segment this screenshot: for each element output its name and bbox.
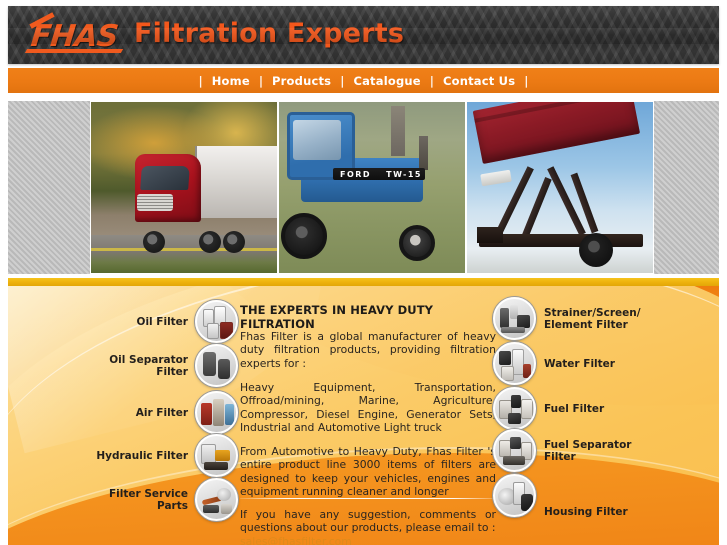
category-label[interactable]: Housing Filter (536, 472, 628, 518)
water-filter-icon[interactable] (493, 342, 536, 385)
category-item-filter-service-parts[interactable]: Filter Service Parts (8, 478, 238, 521)
category-label-line2: Element Filter (544, 319, 628, 331)
category-item-oil-filter[interactable]: Oil Filter (8, 300, 238, 343)
content-headline: THE EXPERTS IN HEAVY DUTY FILTRATION (240, 303, 498, 331)
hydraulic-filter-icon[interactable] (195, 434, 238, 477)
nav-item-home[interactable]: Home (212, 74, 250, 88)
content-paragraph-1: Fhas Filter is a global manufacturer of … (240, 330, 496, 370)
trailer-pad (480, 170, 512, 187)
site-logo[interactable]: FHAS (22, 14, 126, 58)
hero-banner: FORD TW-15 (8, 101, 719, 274)
nav-separator: | (250, 74, 272, 88)
category-label[interactable]: Fuel Separator Filter (536, 439, 631, 463)
hero-image-red-semi-truck (90, 101, 278, 274)
oil-filter-icon[interactable] (195, 300, 238, 343)
category-label[interactable]: Water Filter (536, 358, 615, 370)
truck-trailer-body (195, 146, 278, 218)
tractor-cab-glass (293, 120, 341, 160)
nav-item-products[interactable]: Products (272, 74, 331, 88)
housing-filter-icon[interactable] (493, 474, 536, 517)
main-navigation: | Home | Products | Catalogue | Contact … (8, 68, 719, 93)
nav-separator: | (190, 74, 212, 88)
tractor-brand-text: FORD (340, 170, 371, 179)
category-label-line1: Strainer/Screen/ (544, 307, 641, 319)
category-item-hydraulic-filter[interactable]: Hydraulic Filter (8, 434, 238, 477)
tractor-rear-wheel (281, 213, 327, 259)
nav-separator: | (515, 74, 537, 88)
category-label-line2: Filter (156, 366, 188, 378)
trailer-wheel (579, 233, 613, 267)
category-item-air-filter[interactable]: Air Filter (8, 391, 238, 434)
page-title: Filtration Experts (134, 18, 404, 49)
fuel-filter-icon[interactable] (493, 387, 536, 430)
category-label[interactable]: Hydraulic Filter (96, 450, 195, 462)
truck-wheel (223, 231, 245, 253)
category-label[interactable]: Fuel Filter (536, 403, 604, 415)
category-label-line2: Filter (544, 451, 576, 463)
road-center-line (91, 248, 277, 251)
category-label-line1: Fuel Separator (544, 439, 631, 451)
category-label[interactable]: Oil Separator Filter (109, 354, 195, 378)
background-post (391, 106, 405, 156)
nav-item-contact-us[interactable]: Contact Us (443, 74, 515, 88)
truck-wheel (199, 231, 221, 253)
tractor-brand-decal: FORD TW-15 (337, 168, 425, 180)
content-paragraph-3: From Automotive to Heavy Duty, Fhas Filt… (240, 445, 496, 499)
trailer-hitch (477, 227, 503, 243)
category-label[interactable]: Filter Service Parts (109, 488, 195, 512)
nav-items: | Home | Products | Catalogue | Contact … (190, 74, 538, 88)
gold-divider-bar (8, 278, 719, 286)
site-header: FHAS Filtration Experts (8, 6, 719, 64)
category-item-oil-separator-filter[interactable]: Oil Separator Filter (8, 344, 238, 387)
truck-windshield (140, 166, 190, 190)
category-item-water-filter[interactable]: Water Filter (493, 342, 719, 385)
nav-separator: | (331, 74, 353, 88)
category-item-fuel-separator-filter[interactable]: Fuel Separator Filter (493, 429, 719, 472)
truck-grille (137, 194, 173, 211)
category-label[interactable]: Oil Filter (137, 316, 195, 328)
strainer-screen-element-filter-icon[interactable] (493, 297, 536, 340)
logo-underline-accent (25, 49, 123, 53)
air-filter-icon[interactable] (195, 391, 238, 434)
scissor-arm (521, 177, 551, 239)
tractor-exhaust (419, 136, 428, 170)
category-label-line1: Filter Service (109, 488, 188, 500)
category-column-left: Oil Filter Oil Separator Filter (8, 286, 238, 545)
category-item-fuel-filter[interactable]: Fuel Filter (493, 387, 719, 430)
category-label-line2: Parts (157, 500, 188, 512)
contact-email[interactable]: sales@fhasfilter.com (240, 535, 496, 545)
hero-image-dump-trailer (466, 101, 654, 274)
page-root: FHAS Filtration Experts | Home | Product… (0, 0, 727, 545)
hero-texture-right (654, 101, 727, 274)
category-label[interactable]: Strainer/Screen/ Element Filter (536, 307, 641, 331)
tractor-front-wheel (399, 225, 435, 261)
category-item-housing-filter[interactable]: Housing Filter (493, 472, 719, 518)
oil-separator-filter-icon[interactable] (195, 344, 238, 387)
truck-wheel (143, 231, 165, 253)
fuel-separator-filter-icon[interactable] (493, 429, 536, 472)
hero-image-ford-tractor: FORD TW-15 (278, 101, 466, 274)
trailer-tipping-bed (473, 101, 640, 164)
content-paragraph-4: If you have any suggestion, comments or … (240, 508, 496, 535)
nav-item-catalogue[interactable]: Catalogue (353, 74, 420, 88)
truck-road (91, 235, 277, 273)
main-text-column: THE EXPERTS IN HEAVY DUTY FILTRATION Fha… (230, 286, 498, 545)
tractor-model-text: TW-15 (386, 170, 422, 179)
nav-separator: | (421, 74, 443, 88)
category-item-strainer-screen-element-filter[interactable]: Strainer/Screen/ Element Filter (493, 297, 719, 340)
category-column-right: Strainer/Screen/ Element Filter Water Fi… (493, 286, 719, 545)
content-panel: Oil Filter Oil Separator Filter (8, 286, 719, 545)
content-divider (240, 498, 494, 499)
content-paragraph-2: Heavy Equipment, Transportation, Offroad… (240, 381, 496, 435)
trailer-chassis (479, 234, 643, 247)
filter-service-parts-icon[interactable] (195, 478, 238, 521)
hero-texture-left (8, 101, 90, 274)
category-label[interactable]: Air Filter (136, 407, 195, 419)
category-label-line1: Oil Separator (109, 354, 188, 366)
